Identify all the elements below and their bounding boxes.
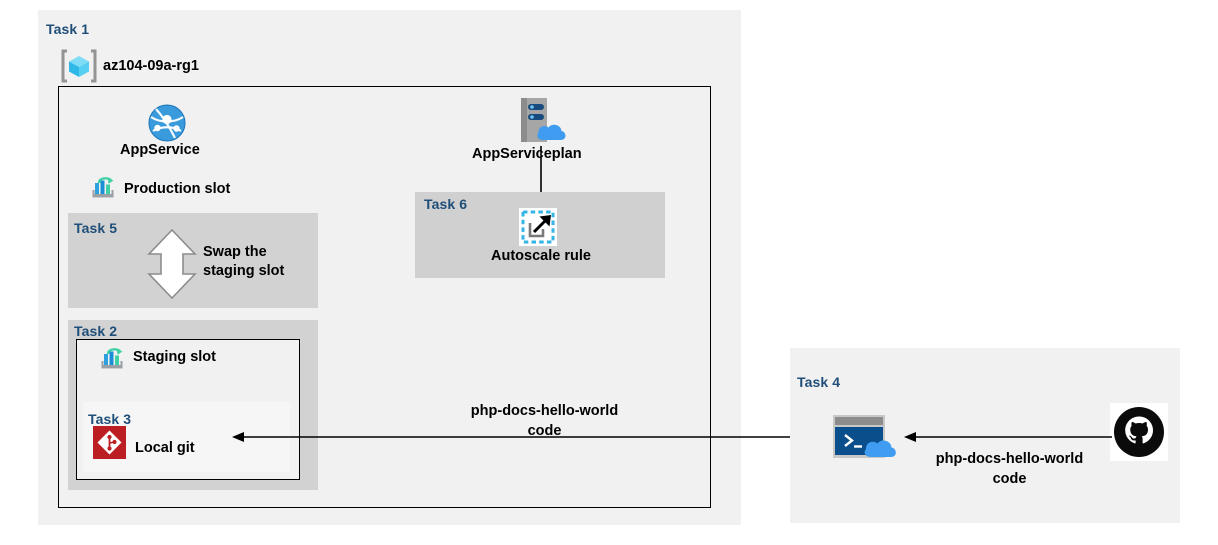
task1-label: Task 1 <box>46 21 89 37</box>
staging-slot-icon <box>99 345 127 371</box>
task4-label: Task 4 <box>797 374 840 390</box>
git-icon <box>93 426 126 459</box>
connector-github-to-cloudshell <box>900 424 1115 450</box>
deployment-slot-icon <box>90 174 118 200</box>
github-to-cloudshell-label: php-docs-hello-world code <box>917 449 1102 489</box>
app-service-globe-icon <box>148 104 186 142</box>
app-service-plan-icon <box>513 96 571 146</box>
resource-group-name: az104-09a-rg1 <box>103 58 199 74</box>
autoscale-rule-icon <box>519 208 557 246</box>
cloud-shell-icon <box>831 413 901 460</box>
autoscale-rule-label: Autoscale rule <box>491 248 591 264</box>
task2-label: Task 2 <box>74 323 117 339</box>
local-git-label: Local git <box>135 440 195 456</box>
connector-cloudshell-to-localgit <box>228 424 838 450</box>
task6-label: Task 6 <box>424 196 467 212</box>
double-headed-vertical-arrow-icon <box>145 228 199 300</box>
task3-label: Task 3 <box>88 411 131 427</box>
app-service-label: AppService <box>120 142 200 158</box>
diagram-canvas: Task 1 az104-09a-rg1 AppService <box>0 0 1218 545</box>
resource-group-cube-icon <box>60 48 98 84</box>
production-slot-label: Production slot <box>124 181 230 197</box>
swap-action-label: Swap the staging slot <box>203 243 313 281</box>
staging-slot-label: Staging slot <box>133 349 216 365</box>
task5-label: Task 5 <box>74 220 117 236</box>
github-octocat-icon <box>1110 403 1168 461</box>
